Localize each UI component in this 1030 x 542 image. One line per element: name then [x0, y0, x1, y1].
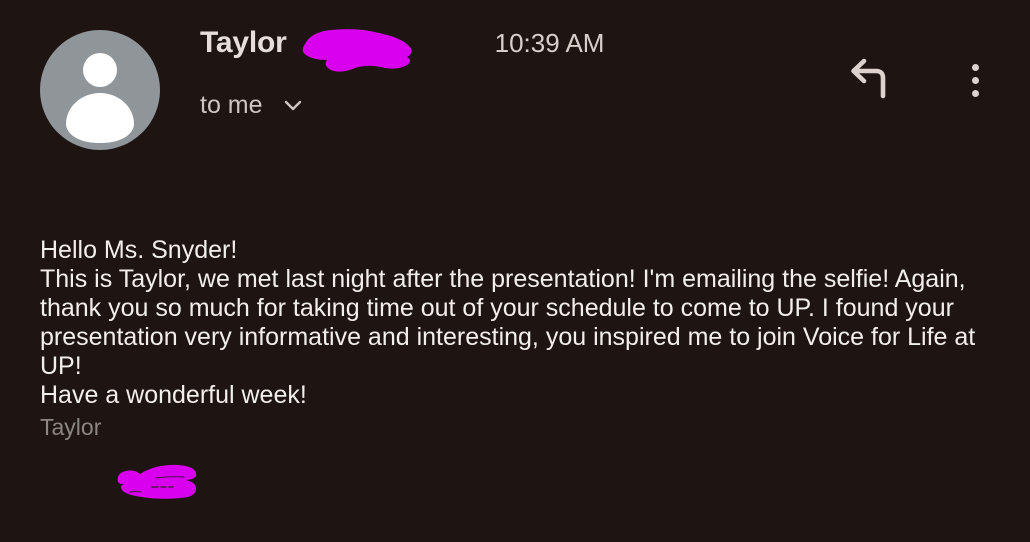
more-dot-bottom — [972, 90, 979, 97]
greeting-paragraph: Hello Ms. Snyder! — [40, 236, 985, 265]
more-vertical-icon[interactable] — [958, 55, 992, 107]
message-timestamp: 10:39 AM — [495, 26, 605, 60]
email-message-view: Taylor 10:39 AM to me Hello Ms. Snyder! … — [0, 0, 1030, 542]
more-dot-top — [972, 64, 979, 71]
recipient-label: to me — [200, 90, 263, 120]
recipient-line[interactable]: to me — [200, 90, 306, 120]
redaction-mark-signature-surname — [112, 462, 204, 504]
signature-line: Taylor — [40, 412, 985, 446]
message-header: Taylor 10:39 AM to me — [0, 0, 1030, 180]
reply-arrow-icon[interactable] — [843, 52, 899, 108]
chevron-down-icon[interactable] — [280, 92, 306, 118]
main-paragraph: This is Taylor, we met last night after … — [40, 265, 985, 381]
sender-line: Taylor 10:39 AM — [200, 26, 604, 66]
signature-name: Taylor — [40, 414, 101, 440]
closing-paragraph: Have a wonderful week! — [40, 381, 985, 410]
sender-name[interactable]: Taylor — [200, 26, 287, 60]
avatar[interactable] — [40, 30, 160, 150]
message-body: Hello Ms. Snyder! This is Taylor, we met… — [40, 236, 985, 446]
person-avatar-icon-body — [66, 93, 134, 143]
more-dot-middle — [972, 77, 979, 84]
person-avatar-icon-head — [83, 53, 117, 87]
